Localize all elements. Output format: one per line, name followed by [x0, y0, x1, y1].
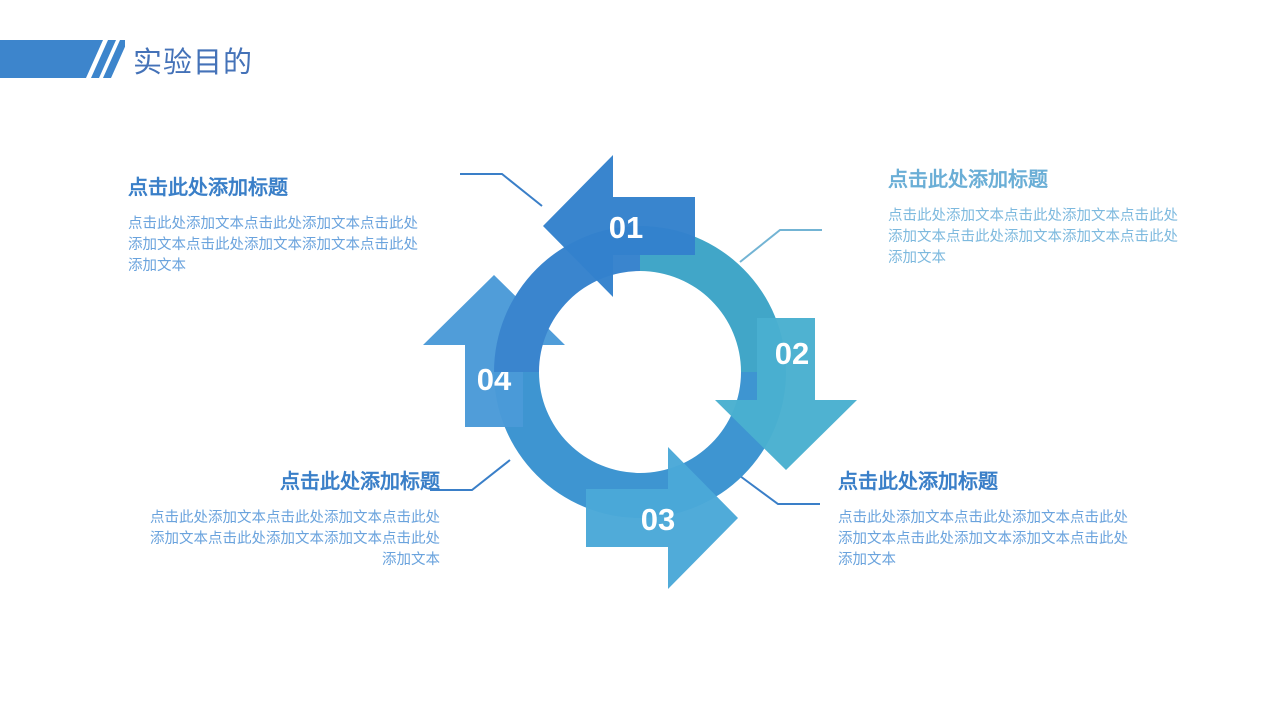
header-accent-bar [0, 40, 103, 78]
content-block-bottom-right-body: 点击此处添加文本点击此处添加文本点击此处添加文本点击此处添加文本添加文本点击此处… [838, 508, 1138, 571]
content-block-top-left-title: 点击此处添加标题 [128, 174, 428, 202]
content-block-bottom-left: 点击此处添加标题 点击此处添加文本点击此处添加文本点击此处添加文本点击此处添加文… [140, 468, 440, 571]
content-block-top-right-title: 点击此处添加标题 [888, 166, 1188, 194]
leader-line-top-right [740, 230, 822, 262]
header-accent-decoration [0, 40, 125, 78]
content-block-top-right-body: 点击此处添加文本点击此处添加文本点击此处添加文本点击此处添加文本添加文本点击此处… [888, 206, 1188, 269]
content-block-top-left: 点击此处添加标题 点击此处添加文本点击此处添加文本点击此处添加文本点击此处添加文… [128, 174, 428, 277]
segment-02-number: 02 [775, 336, 809, 371]
slide-header: 实验目的 [0, 0, 1280, 110]
content-block-bottom-left-title: 点击此处添加标题 [140, 468, 440, 496]
content-block-top-right: 点击此处添加标题 点击此处添加文本点击此处添加文本点击此处添加文本点击此处添加文… [888, 166, 1188, 269]
content-block-bottom-left-body: 点击此处添加文本点击此处添加文本点击此处添加文本点击此处添加文本添加文本点击此处… [140, 508, 440, 571]
content-block-top-left-body: 点击此处添加文本点击此处添加文本点击此处添加文本点击此处添加文本添加文本点击此处… [128, 214, 428, 277]
leader-line-top-left [460, 174, 542, 206]
segment-01-number: 01 [609, 210, 643, 245]
leader-line-bottom-left [430, 460, 510, 490]
leader-line-bottom-right [740, 476, 820, 504]
cycle-diagram: 04 03 02 01 [410, 142, 870, 602]
content-block-bottom-right-title: 点击此处添加标题 [838, 468, 1138, 496]
page-title: 实验目的 [133, 44, 253, 82]
content-block-bottom-right: 点击此处添加标题 点击此处添加文本点击此处添加文本点击此处添加文本点击此处添加文… [838, 468, 1138, 571]
segment-03-number: 03 [641, 502, 675, 537]
